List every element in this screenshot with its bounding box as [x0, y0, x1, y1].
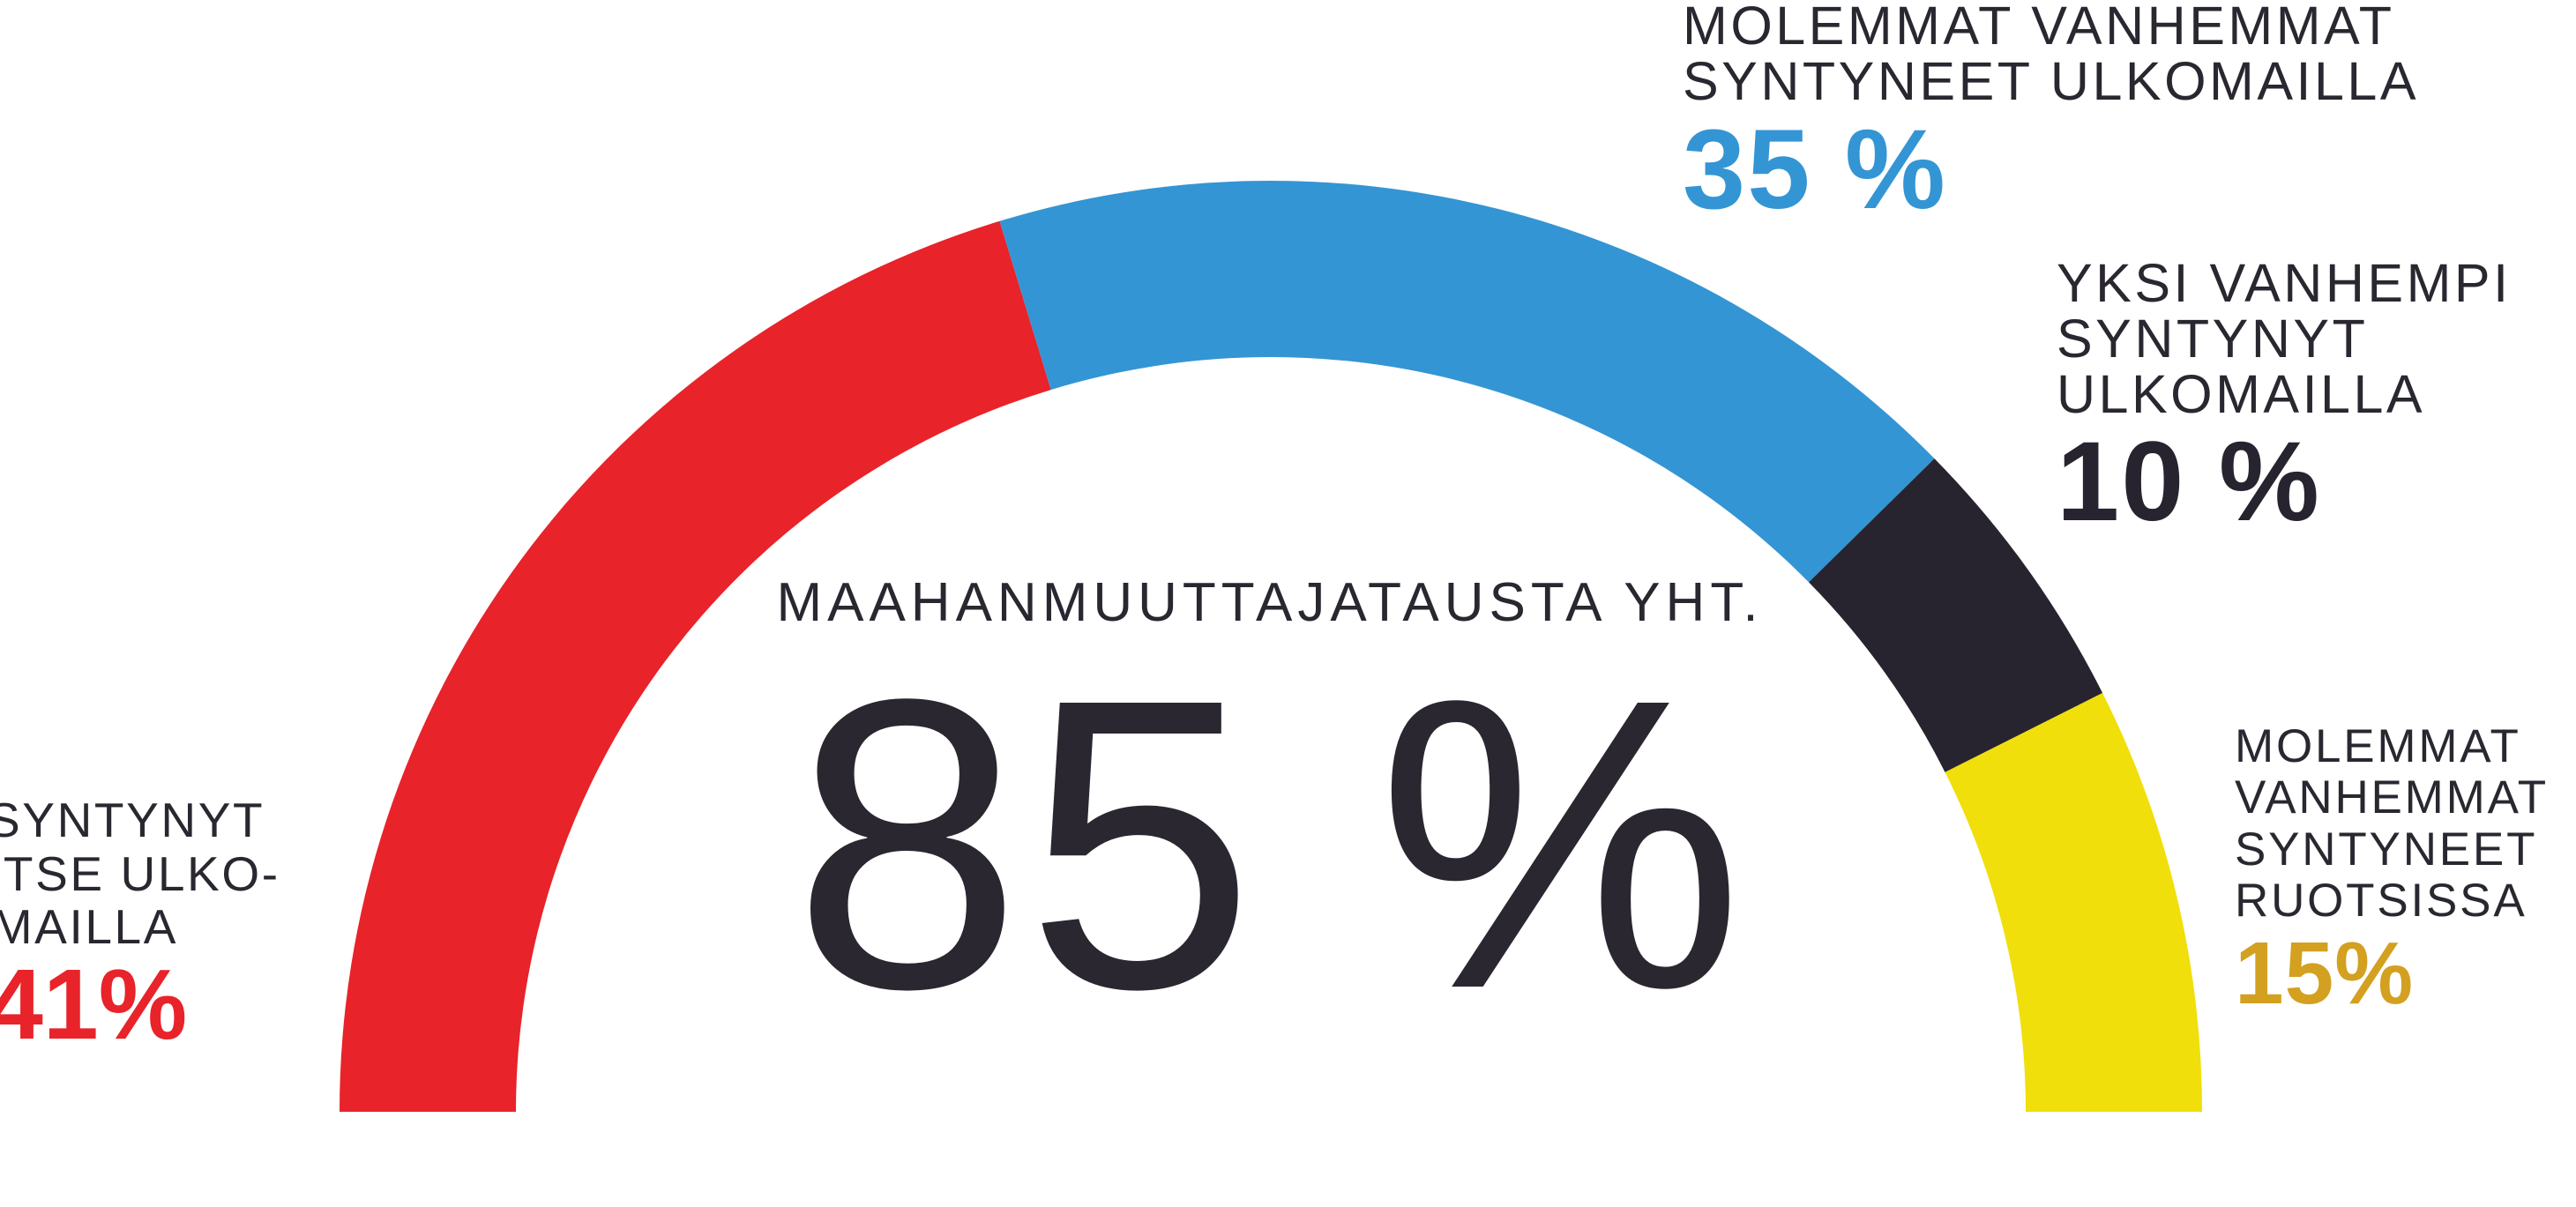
legend-label-line: MOLEMMAT — [2235, 721, 2549, 772]
legend-label-line: SYNTYNYT — [0, 793, 178, 847]
legend-label-both-parents-born-in-sweden: MOLEMMAT VANHEMMAT SYNTYNEET RUOTSISSA 1… — [2235, 721, 2549, 1016]
legend-label-line: MOLEMMAT VANHEMMAT — [1683, 0, 2419, 54]
legend-value-both-parents-born-in-sweden: 15% — [2235, 932, 2549, 1016]
arc-segment-both-abroad — [1000, 181, 1935, 582]
legend-label-line: MAILLA — [0, 900, 178, 954]
legend-label-born-abroad-oneself: SYNTYNYT ITSE ULKO- MAILLA 41% — [0, 793, 178, 1052]
legend-label-line: SYNTYNEET — [2235, 824, 2549, 875]
legend-label-line: SYNTYNYT — [2057, 311, 2512, 367]
legend-label-line: SYNTYNEET ULKOMAILLA — [1683, 54, 2419, 109]
legend-label-both-parents-born-abroad: MOLEMMAT VANHEMMAT SYNTYNEET ULKOMAILLA … — [1683, 0, 2419, 223]
legend-label-line: ULKOMAILLA — [2057, 367, 2512, 422]
chart-center-value: 85 % — [529, 655, 2011, 1035]
chart-center-total: MAAHANMUUTTAJATAUSTA YHT. 85 % — [529, 571, 2011, 1035]
legend-value-one-parent-born-abroad: 10 % — [2057, 428, 2512, 536]
legend-label-line: RUOTSISSA — [2235, 875, 2549, 927]
legend-value-both-parents-born-abroad: 35 % — [1683, 116, 2419, 224]
legend-label-line: ITSE ULKO- — [0, 847, 178, 901]
legend-label-line: VANHEMMAT — [2235, 772, 2549, 823]
legend-value-born-abroad-oneself: 41% — [0, 957, 178, 1052]
legend-label-one-parent-born-abroad: YKSI VANHEMPI SYNTYNYT ULKOMAILLA 10 % — [2057, 256, 2512, 536]
legend-label-line: YKSI VANHEMPI — [2057, 256, 2512, 311]
